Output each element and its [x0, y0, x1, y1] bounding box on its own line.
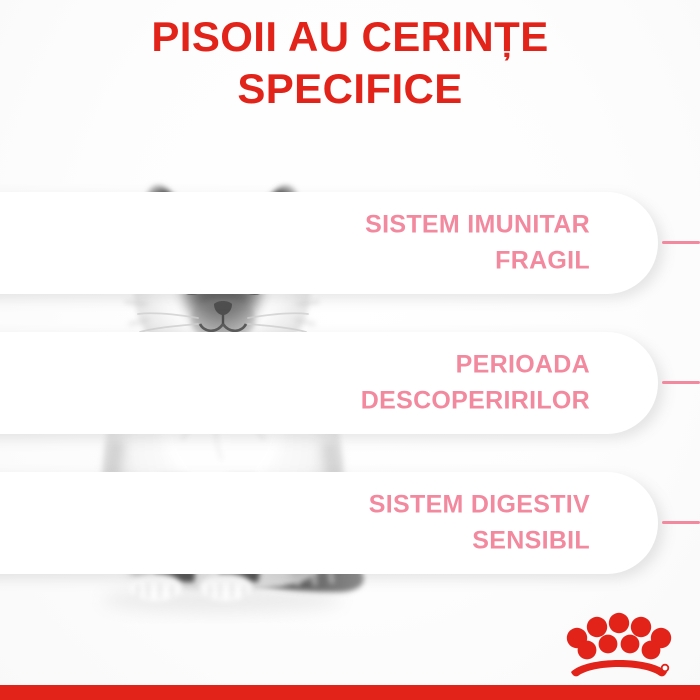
connector-line-3 — [662, 521, 700, 524]
footer-bar — [0, 685, 700, 700]
feature-card-sistem-imunitar-fragil[interactable]: SISTEM IMUNITAR FRAGIL — [0, 192, 658, 294]
feature-label: SISTEM IMUNITAR FRAGIL — [365, 208, 590, 279]
connector-line-2 — [662, 381, 700, 384]
connector-line-1 — [662, 241, 700, 244]
page-title-line-1: PISOII AU CERINȚE — [0, 16, 700, 58]
feature-card-perioada-descoperirilor[interactable]: PERIOADA DESCOPERIRILOR — [0, 332, 658, 434]
page-title: PISOII AU CERINȚE SPECIFICE — [0, 16, 700, 110]
feature-label: SISTEM DIGESTIV SENSIBIL — [369, 488, 590, 559]
feature-label: PERIOADA DESCOPERIRILOR — [361, 348, 590, 419]
registered-trademark-icon — [661, 664, 669, 672]
promo-banner: PISOII AU CERINȚE SPECIFICE — [0, 0, 700, 700]
royal-canin-crown-icon — [565, 606, 673, 678]
feature-card-sistem-digestiv-sensibil[interactable]: SISTEM DIGESTIV SENSIBIL — [0, 472, 658, 574]
page-title-line-2: SPECIFICE — [0, 68, 700, 110]
